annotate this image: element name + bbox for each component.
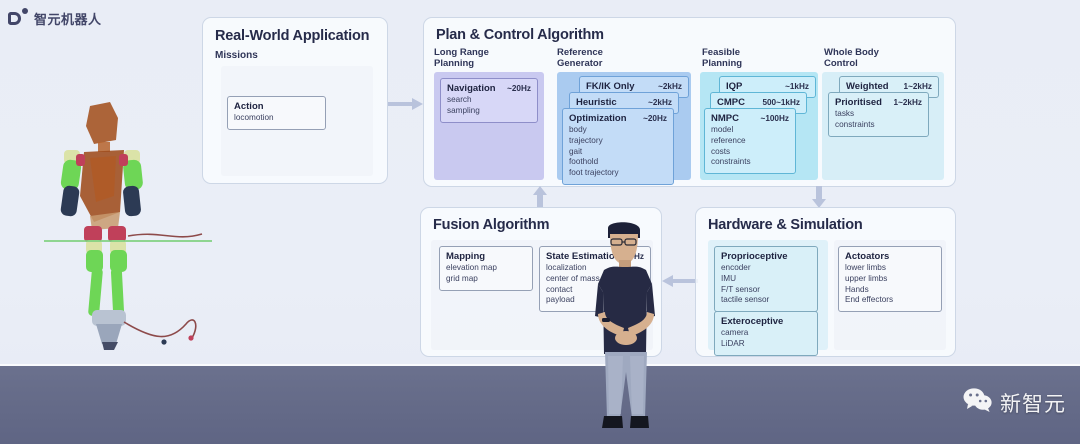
card-proprioceptive-name: Proprioceptive (721, 251, 788, 262)
label-line-2: Planning (434, 58, 474, 69)
list-item: foothold (569, 157, 667, 168)
card-navigation-freq: ~20Hz (507, 84, 531, 93)
list-item: camera (721, 328, 811, 339)
stage-floor (0, 366, 1080, 444)
column-label-long-range-planning: Long Range Planning (434, 47, 489, 69)
robot-svg (44, 92, 212, 350)
card-mapping[interactable]: Mapping elevation map grid map (439, 246, 533, 291)
card-nmpc-name: NMPC (711, 113, 739, 124)
card-iqp-freq: ~1kHz (785, 82, 809, 91)
list-item: costs (711, 147, 789, 158)
slide-stage: 智元机器人 (0, 0, 1080, 444)
wechat-watermark: 新智元 (963, 387, 1066, 418)
list-item: model (711, 125, 789, 136)
list-item: Hands (845, 285, 935, 296)
card-fk-ik-only-head: FK/IK Only ~2kHz (586, 81, 682, 92)
card-navigation[interactable]: Navigation ~20Hz search sampling (440, 78, 538, 123)
card-weighted-freq: 1~2kHz (904, 82, 932, 91)
list-item: reference (711, 136, 789, 147)
list-item: IMU (721, 274, 811, 285)
list-item: elevation map (446, 263, 526, 274)
label-line-1: Long Range (434, 47, 489, 58)
panel-real-world-application: Real-World Application Missions Action l… (202, 17, 388, 184)
real-world-title: Real-World Application (215, 28, 369, 44)
brand-name: 智元机器人 (34, 9, 102, 28)
card-navigation-name: Navigation (447, 83, 496, 94)
humanoid-robot-visualization (44, 92, 212, 350)
card-navigation-items: search sampling (447, 95, 531, 117)
list-item: tasks (835, 109, 922, 120)
card-actuators-name: Actoators (845, 251, 889, 262)
presenter-svg (578, 222, 674, 444)
list-item: search (447, 95, 531, 106)
list-item: F/T sensor (721, 285, 811, 296)
card-prioritised-items: tasks constraints (835, 109, 922, 131)
card-exteroceptive-name: Exteroceptive (721, 316, 783, 327)
card-navigation-head: Navigation ~20Hz (447, 83, 531, 94)
list-item: End effectors (845, 295, 935, 306)
agibot-logo-icon (8, 8, 28, 28)
card-action-name: Action (234, 101, 264, 112)
label-line-1: Feasible (702, 47, 740, 58)
card-optimization-name: Optimization (569, 113, 627, 124)
arrow-fusion-to-plan (533, 186, 547, 208)
card-proprioceptive-items: encoder IMU F/T sensor tactile sensor (721, 263, 811, 306)
card-mapping-name: Mapping (446, 251, 485, 262)
panel-plan-control-algorithm: Plan & Control Algorithm Long Range Plan… (423, 17, 956, 187)
card-proprioceptive-head: Proprioceptive (721, 251, 811, 262)
label-line-2: Control (824, 58, 858, 69)
label-line-2: Generator (557, 58, 602, 69)
column-label-whole-body-control: Whole Body Control (824, 47, 879, 69)
list-item: constraints (711, 157, 789, 168)
card-heuristic-head: Heuristic ~2kHz (576, 97, 672, 108)
card-fk-ik-only-name: FK/IK Only (586, 81, 635, 92)
card-heuristic-name: Heuristic (576, 97, 617, 108)
list-item: locomotion (234, 113, 319, 124)
presenter-on-stage (578, 222, 674, 444)
list-item: trajectory (569, 136, 667, 147)
card-mapping-items: elevation map grid map (446, 263, 526, 285)
card-action-head: Action (234, 101, 319, 112)
watermark-text: 新智元 (1000, 388, 1066, 418)
robot-ground-line (44, 240, 212, 242)
arrow-realworld-to-plan (388, 98, 424, 110)
card-nmpc-head: NMPC ~100Hz (711, 113, 789, 124)
wechat-icon (963, 387, 993, 418)
list-item: LiDAR (721, 339, 811, 350)
card-proprioceptive[interactable]: Proprioceptive encoder IMU F/T sensor ta… (714, 246, 818, 312)
card-prioritised-head: Prioritised 1~2kHz (835, 97, 922, 108)
list-item: body (569, 125, 667, 136)
real-world-section-label: Missions (215, 50, 258, 62)
fusion-title: Fusion Algorithm (433, 217, 549, 233)
card-nmpc-items: model reference costs constraints (711, 125, 789, 168)
list-item: grid map (446, 274, 526, 285)
label-line-1: Whole Body (824, 47, 879, 58)
card-prioritised-freq: 1~2kHz (894, 98, 922, 107)
column-label-reference-generator: Reference Generator (557, 47, 603, 69)
list-item: encoder (721, 263, 811, 274)
card-actuators-items: lower limbs upper limbs Hands End effect… (845, 263, 935, 306)
card-action[interactable]: Action locomotion (227, 96, 326, 130)
list-item: tactile sensor (721, 295, 811, 306)
card-action-items: locomotion (234, 113, 319, 124)
card-fk-ik-only-freq: ~2kHz (658, 82, 682, 91)
label-line-1: Reference (557, 47, 603, 58)
card-optimization[interactable]: Optimization ~20Hz body trajectory gait … (562, 108, 674, 185)
card-weighted-name: Weighted (846, 81, 889, 92)
card-optimization-freq: ~20Hz (643, 114, 667, 123)
card-weighted-head: Weighted 1~2kHz (846, 81, 932, 92)
card-prioritised[interactable]: Prioritised 1~2kHz tasks constraints (828, 92, 929, 137)
card-cmpc-freq: 500~1kHz (762, 98, 800, 107)
card-iqp-head: IQP ~1kHz (726, 81, 809, 92)
card-exteroceptive[interactable]: Exteroceptive camera LiDAR (714, 311, 818, 356)
panel-hardware-simulation: Hardware & Simulation Proprioceptive enc… (695, 207, 956, 357)
card-actuators-head: Actoators (845, 251, 935, 262)
card-optimization-head: Optimization ~20Hz (569, 113, 667, 124)
list-item: sampling (447, 106, 531, 117)
card-iqp-name: IQP (726, 81, 742, 92)
list-item: foot trajectory (569, 168, 667, 179)
card-prioritised-name: Prioritised (835, 97, 882, 108)
list-item: gait (569, 147, 667, 158)
plan-control-title: Plan & Control Algorithm (436, 27, 604, 43)
brand-logo: 智元机器人 (8, 8, 102, 28)
hardware-title: Hardware & Simulation (708, 217, 863, 233)
card-cmpc-name: CMPC (717, 97, 745, 108)
card-exteroceptive-head: Exteroceptive (721, 316, 811, 327)
card-mapping-head: Mapping (446, 251, 526, 262)
card-heuristic-freq: ~2kHz (648, 98, 672, 107)
label-line-2: Planning (702, 58, 742, 69)
arrow-plan-to-hardware (812, 186, 826, 208)
card-optimization-items: body trajectory gait foothold foot traje… (569, 125, 667, 179)
list-item: lower limbs (845, 263, 935, 274)
card-exteroceptive-items: camera LiDAR (721, 328, 811, 350)
card-actuators[interactable]: Actoators lower limbs upper limbs Hands … (838, 246, 942, 312)
card-cmpc-head: CMPC 500~1kHz (717, 97, 800, 108)
card-nmpc-freq: ~100Hz (761, 114, 789, 123)
card-nmpc[interactable]: NMPC ~100Hz model reference costs constr… (704, 108, 796, 174)
list-item: upper limbs (845, 274, 935, 285)
list-item: constraints (835, 120, 922, 131)
column-label-feasible-planning: Feasible Planning (702, 47, 742, 69)
